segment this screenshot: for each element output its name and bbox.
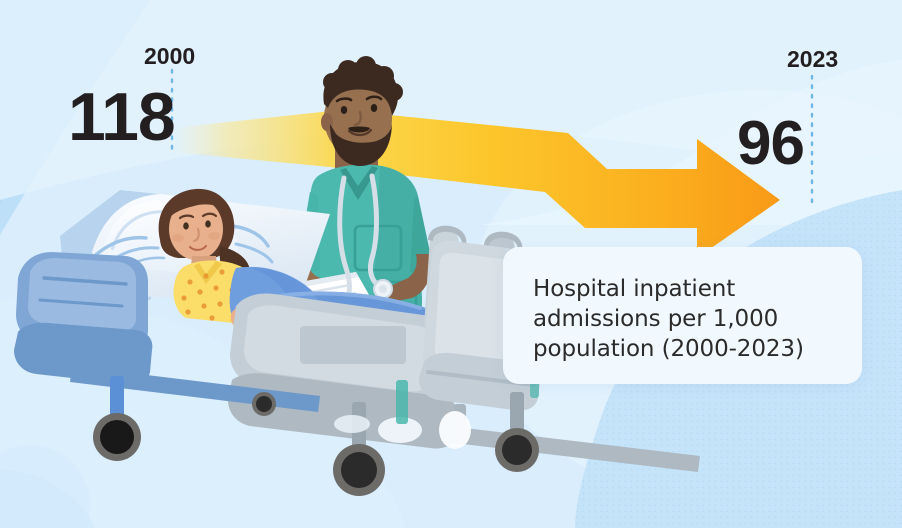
year-label-end: 2023 [787, 48, 838, 71]
caption-text: Hospital inpatient admissions per 1,000 … [533, 274, 833, 364]
infographic-canvas: Hospital inpatient admissions per 1,000 … [0, 0, 902, 528]
caption-card: Hospital inpatient admissions per 1,000 … [503, 247, 862, 384]
bed-frame-right [446, 426, 700, 472]
year-label-start: 2000 [144, 45, 195, 68]
value-end: 96 [737, 113, 804, 175]
value-start: 118 [68, 83, 175, 151]
bed-control-panel [300, 326, 406, 364]
